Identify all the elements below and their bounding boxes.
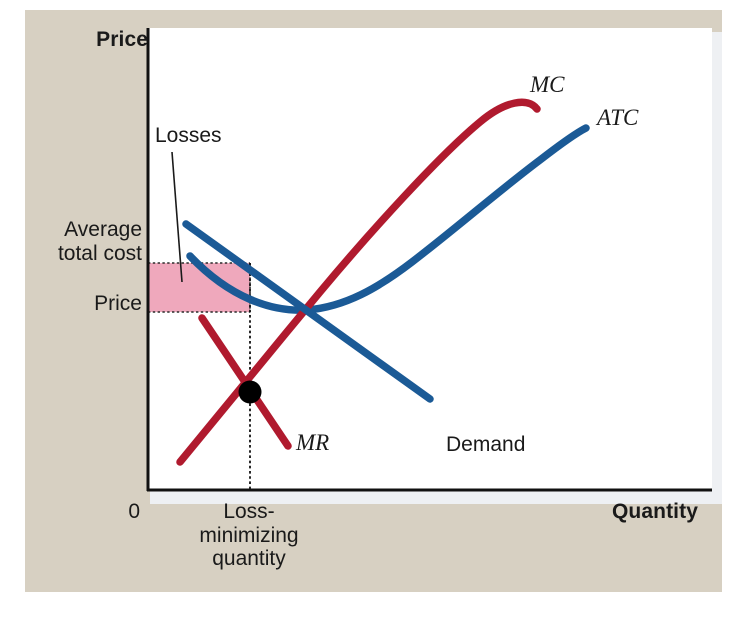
loss-min-qty-line2: minimizing: [199, 524, 298, 547]
demand-curve-label: Demand: [446, 433, 525, 457]
figure-root: Price Averagetotal cost Price 0 Quantity…: [0, 0, 750, 632]
equilibrium-dot: [239, 381, 262, 404]
mc-curve-label: MC: [530, 72, 565, 98]
mr-curve-label: MR: [296, 430, 329, 456]
loss-min-qty-line3: quantity: [212, 547, 286, 570]
losses-annotation-label: Losses: [155, 124, 222, 148]
atc-scratch3: [189, 128, 586, 365]
chart-graphics-layer: [0, 0, 750, 632]
average-total-cost-label: Averagetotal cost: [28, 218, 142, 265]
average-total-cost-line2: total cost: [58, 242, 142, 265]
price-level-label: Price: [28, 292, 142, 316]
loss-minimizing-quantity-label: Loss-minimizingquantity: [168, 500, 330, 571]
origin-label: 0: [112, 500, 140, 524]
x-axis-label: Quantity: [612, 500, 698, 524]
loss-min-qty-line1: Loss-: [223, 500, 274, 523]
y-axis-label: Price: [96, 28, 148, 52]
atc-curve-label: ATC: [597, 105, 638, 131]
average-total-cost-line1: Average: [64, 218, 142, 241]
